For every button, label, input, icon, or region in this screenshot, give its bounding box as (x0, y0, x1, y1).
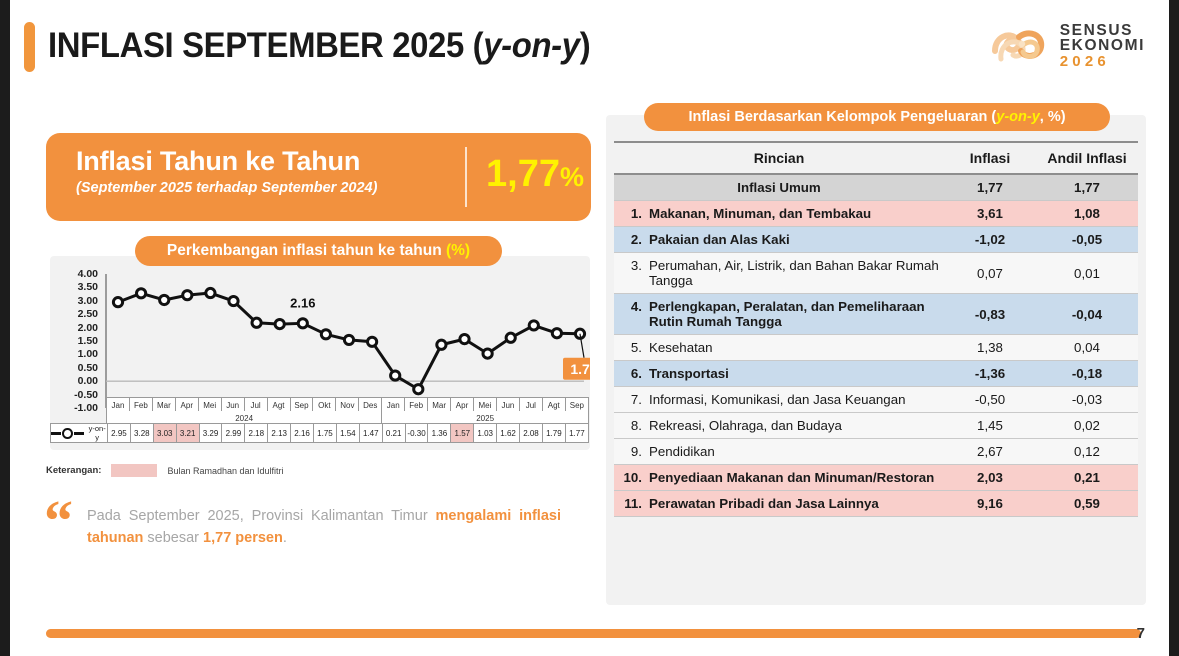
cell-rincian: 3.Perumahan, Air, Listrik, dan Bahan Bak… (614, 253, 944, 294)
table-row: 4.Perlengkapan, Peralatan, dan Pemelihar… (614, 294, 1138, 335)
series-value-cell: 2.18 (245, 424, 268, 443)
keterangan-swatch (111, 464, 157, 477)
legend-line-icon (51, 432, 61, 435)
y-axis-label: 2.50 (60, 308, 98, 320)
logo-ribbon-icon (989, 21, 1051, 71)
chart-title-text: Perkembangan inflasi tahun ke tahun (167, 242, 446, 259)
y-axis-label: 0.50 (60, 362, 98, 374)
chart-point (275, 320, 284, 329)
col-header-andil: Andil Inflasi (1036, 142, 1138, 174)
series-value-cell: 1.75 (314, 424, 337, 443)
page-title-italic: y-on-y (483, 26, 579, 65)
chart-point (414, 385, 423, 394)
cell-inflasi: 1,77 (944, 174, 1036, 201)
row-number: 6. (622, 366, 642, 381)
cell-andil: -0,18 (1036, 361, 1138, 387)
logo-line-3: 2026 (1060, 54, 1145, 69)
series-value-cell: 1.03 (474, 424, 497, 443)
row-number: 9. (622, 444, 642, 459)
banner-value-unit: % (560, 162, 584, 192)
chart-title-accent: (%) (446, 242, 470, 259)
series-value-cell: 2.99 (222, 424, 245, 443)
row-number: 10. (622, 470, 642, 485)
cell-inflasi: 0,07 (944, 253, 1036, 294)
cell-andil: -0,04 (1036, 294, 1138, 335)
cell-rincian: 5.Kesehatan (614, 335, 944, 361)
series-value-cell: 2.16 (291, 424, 314, 443)
page-title: INFLASI SEPTEMBER 2025 (y-on-y) (48, 26, 590, 66)
chart-point (183, 291, 192, 300)
callout-label: 1.77 (570, 361, 590, 377)
slide-header: INFLASI SEPTEMBER 2025 (y-on-y) SENSUS E… (10, 0, 1169, 92)
table-row: 9.Pendidikan2,670,12 (614, 439, 1138, 465)
row-label: Rekreasi, Olahraga, dan Budaya (649, 418, 842, 433)
keterangan: Keterangan: Bulan Ramadhan dan Idulfitri (46, 464, 284, 477)
table-row: 11.Perawatan Pribadi dan Jasa Lainnya9,1… (614, 491, 1138, 517)
row-label: Perumahan, Air, Listrik, dan Bahan Bakar… (649, 258, 944, 288)
series-value-cell: 1.57 (451, 424, 474, 443)
row-label: Penyediaan Makanan dan Minuman/Restoran (649, 470, 934, 485)
quote-block: “ Pada September 2025, Provinsi Kalimant… (44, 500, 589, 550)
y-axis-label: 1.00 (60, 348, 98, 360)
chart-point (321, 330, 330, 339)
table-body: Inflasi Umum1,771,771.Makanan, Minuman, … (614, 174, 1138, 517)
chart-point (298, 319, 307, 328)
cell-rincian: 6.Transportasi (614, 361, 944, 387)
chart-point (483, 349, 492, 358)
table-title-end: , %) (1040, 109, 1066, 125)
chart-title-pill: Perkembangan inflasi tahun ke tahun (%) (135, 236, 502, 266)
table-title: Inflasi Berdasarkan Kelompok Pengeluaran… (688, 109, 1065, 125)
logo-line-1: SENSUS (1060, 23, 1145, 39)
table-title-italic: y-on-y (996, 109, 1040, 125)
cell-rincian: 4.Perlengkapan, Peralatan, dan Pemelihar… (614, 294, 944, 335)
quote-part-1: Pada September 2025, Provinsi Kalimantan… (87, 508, 436, 524)
chart-point (137, 289, 146, 298)
cell-andil: -0,05 (1036, 227, 1138, 253)
row-number: 2. (622, 232, 642, 247)
cell-rincian: 7.Informasi, Komunikasi, dan Jasa Keuang… (614, 387, 944, 413)
row-label: Pendidikan (649, 444, 715, 459)
cell-rincian: 1.Makanan, Minuman, dan Tembakau (614, 201, 944, 227)
series-legend-cell: y-on-y (51, 424, 108, 443)
series-value-cell: 3.03 (153, 424, 176, 443)
slide: INFLASI SEPTEMBER 2025 (y-on-y) SENSUS E… (0, 0, 1179, 656)
series-value-cell: 2.08 (520, 424, 543, 443)
series-value-cell: 1.62 (497, 424, 520, 443)
banner-title: Inflasi Tahun ke Tahun (76, 146, 377, 177)
cell-inflasi: 2,67 (944, 439, 1036, 465)
quote-part-2: sebesar (143, 530, 203, 546)
table-row: 8.Rekreasi, Olahraga, dan Budaya1,450,02 (614, 413, 1138, 439)
chart-point (344, 335, 353, 344)
row-label: Perawatan Pribadi dan Jasa Lainnya (649, 496, 879, 511)
cell-inflasi: 2,03 (944, 465, 1036, 491)
row-label: Makanan, Minuman, dan Tembakau (649, 206, 871, 221)
row-number: 11. (622, 496, 642, 511)
cell-inflasi: -1,36 (944, 361, 1036, 387)
chart-point (437, 340, 446, 349)
cell-rincian: 11.Perawatan Pribadi dan Jasa Lainnya (614, 491, 944, 517)
quote-highlight-2: 1,77 persen (203, 530, 283, 546)
cell-andil: 0,02 (1036, 413, 1138, 439)
inflation-table: Rincian Inflasi Andil Inflasi Inflasi Um… (614, 141, 1138, 517)
banner-value: 1,77% (486, 153, 584, 196)
row-number: 4. (622, 299, 642, 329)
series-value-cell: 2.13 (268, 424, 291, 443)
quote-part-3: . (283, 530, 287, 546)
row-number: 5. (622, 340, 642, 355)
table-title-text: Inflasi Berdasarkan Kelompok Pengeluaran… (688, 109, 996, 125)
cell-inflasi: -0,83 (944, 294, 1036, 335)
row-number: 1. (622, 206, 642, 221)
banner-left: Inflasi Tahun ke Tahun (September 2025 t… (76, 146, 377, 196)
page-title-end: ) (580, 26, 591, 65)
legend-dot-icon (62, 428, 73, 439)
logo-line-2: EKONOMI (1060, 38, 1145, 54)
chart-point (229, 296, 238, 305)
cell-andil: -0,03 (1036, 387, 1138, 413)
cell-andil: 0,59 (1036, 491, 1138, 517)
cell-rincian: 10.Penyediaan Makanan dan Minuman/Restor… (614, 465, 944, 491)
table-row: 6.Transportasi-1,36-0,18 (614, 361, 1138, 387)
chart-point (391, 371, 400, 380)
row-number: 3. (622, 258, 642, 288)
chart-point (460, 335, 469, 344)
chart-points (113, 288, 584, 393)
cell-rincian: 9.Pendidikan (614, 439, 944, 465)
row-number: 8. (622, 418, 642, 433)
y-axis-label: 0.00 (60, 375, 98, 387)
chart-title: Perkembangan inflasi tahun ke tahun (%) (167, 242, 470, 260)
series-value-cell: 1.54 (336, 424, 359, 443)
table-row: 1.Makanan, Minuman, dan Tembakau3,611,08 (614, 201, 1138, 227)
cell-inflasi: -1,02 (944, 227, 1036, 253)
series-value-cell: 1.47 (359, 424, 382, 443)
page-number: 7 (1137, 625, 1145, 642)
chart-point (506, 333, 515, 342)
series-value-cell: 3.29 (199, 424, 222, 443)
cell-inflasi: 9,16 (944, 491, 1036, 517)
series-label: y-on-y (87, 424, 107, 442)
table-row: 2.Pakaian dan Alas Kaki-1,02-0,05 (614, 227, 1138, 253)
banner-subtitle: (September 2025 terhadap September 2024) (76, 180, 377, 196)
y-axis-label: 2.00 (60, 322, 98, 334)
table-header-row: Rincian Inflasi Andil Inflasi (614, 142, 1138, 174)
y-axis-label: -0.50 (60, 389, 98, 401)
y-axis-label: 3.50 (60, 281, 98, 293)
series-value-cell: 1.36 (428, 424, 451, 443)
cell-inflasi: 1,45 (944, 413, 1036, 439)
series-value-table: y-on-y 2.953.283.033.213.292.992.182.132… (50, 423, 589, 443)
quote-mark-icon: “ (44, 500, 73, 550)
row-number: 7. (622, 392, 642, 407)
cell-andil: 1,77 (1036, 174, 1138, 201)
cell-rincian: 2.Pakaian dan Alas Kaki (614, 227, 944, 253)
row-label: Transportasi (649, 366, 729, 381)
quote-text: Pada September 2025, Provinsi Kalimantan… (87, 500, 561, 550)
keterangan-label: Keterangan: (46, 465, 101, 476)
series-value-cell: 0.21 (382, 424, 405, 443)
table-row: 5.Kesehatan1,380,04 (614, 335, 1138, 361)
cell-andil: 0,12 (1036, 439, 1138, 465)
cell-rincian: Inflasi Umum (614, 174, 944, 201)
chart-point (552, 329, 561, 338)
series-value-cell: 2.95 (108, 424, 131, 443)
series-row: y-on-y 2.953.283.033.213.292.992.182.132… (51, 424, 589, 443)
row-label: Kesehatan (649, 340, 713, 355)
series-value-cell: -0.30 (405, 424, 428, 443)
cell-inflasi: 3,61 (944, 201, 1036, 227)
table-row: 7.Informasi, Komunikasi, dan Jasa Keuang… (614, 387, 1138, 413)
row-label: Perlengkapan, Peralatan, dan Pemeliharaa… (649, 299, 944, 329)
chart-point (160, 295, 169, 304)
footer-bar (46, 629, 1141, 638)
table-row: Inflasi Umum1,771,77 (614, 174, 1138, 201)
series-value-cell: 1.79 (542, 424, 565, 443)
col-header-rincian: Rincian (614, 142, 944, 174)
cell-andil: 0,04 (1036, 335, 1138, 361)
chart-point (206, 288, 215, 297)
y-axis-label: 4.00 (60, 268, 98, 280)
table-row: 10.Penyediaan Makanan dan Minuman/Restor… (614, 465, 1138, 491)
inflation-banner: Inflasi Tahun ke Tahun (September 2025 t… (46, 133, 591, 221)
table-row: 3.Perumahan, Air, Listrik, dan Bahan Bak… (614, 253, 1138, 294)
table-head: Rincian Inflasi Andil Inflasi (614, 142, 1138, 174)
logo-text: SENSUS EKONOMI 2026 (1060, 23, 1145, 70)
series-value-cell: 1.77 (565, 424, 588, 443)
cell-inflasi: -0,50 (944, 387, 1036, 413)
sensus-ekonomi-logo: SENSUS EKONOMI 2026 (989, 18, 1145, 74)
series-value-cell: 3.21 (176, 424, 199, 443)
series-legend-marker: y-on-y (51, 424, 107, 442)
row-label: Pakaian dan Alas Kaki (649, 232, 790, 247)
y-axis-label: -1.00 (60, 402, 98, 414)
page-title-main: INFLASI SEPTEMBER 2025 ( (48, 26, 483, 65)
col-header-inflasi: Inflasi (944, 142, 1036, 174)
cell-inflasi: 1,38 (944, 335, 1036, 361)
chart-point (113, 298, 122, 307)
legend-line-icon-2 (74, 432, 84, 435)
table-title-pill: Inflasi Berdasarkan Kelompok Pengeluaran… (644, 103, 1110, 131)
chart-annotation-label: 2.16 (290, 295, 315, 310)
chart-point (529, 321, 538, 330)
banner-divider (465, 147, 467, 207)
y-axis-label: 1.50 (60, 335, 98, 347)
series-value-cell: 3.28 (130, 424, 153, 443)
y-axis-label: 3.00 (60, 295, 98, 307)
cell-andil: 0,21 (1036, 465, 1138, 491)
cell-andil: 1,08 (1036, 201, 1138, 227)
chart-point (368, 337, 377, 346)
title-accent-bar (24, 22, 35, 72)
cell-andil: 0,01 (1036, 253, 1138, 294)
keterangan-desc: Bulan Ramadhan dan Idulfitri (167, 466, 283, 476)
row-label: Informasi, Komunikasi, dan Jasa Keuangan (649, 392, 906, 407)
chart-point (252, 318, 261, 327)
cell-rincian: 8.Rekreasi, Olahraga, dan Budaya (614, 413, 944, 439)
banner-value-number: 1,77 (486, 153, 560, 195)
